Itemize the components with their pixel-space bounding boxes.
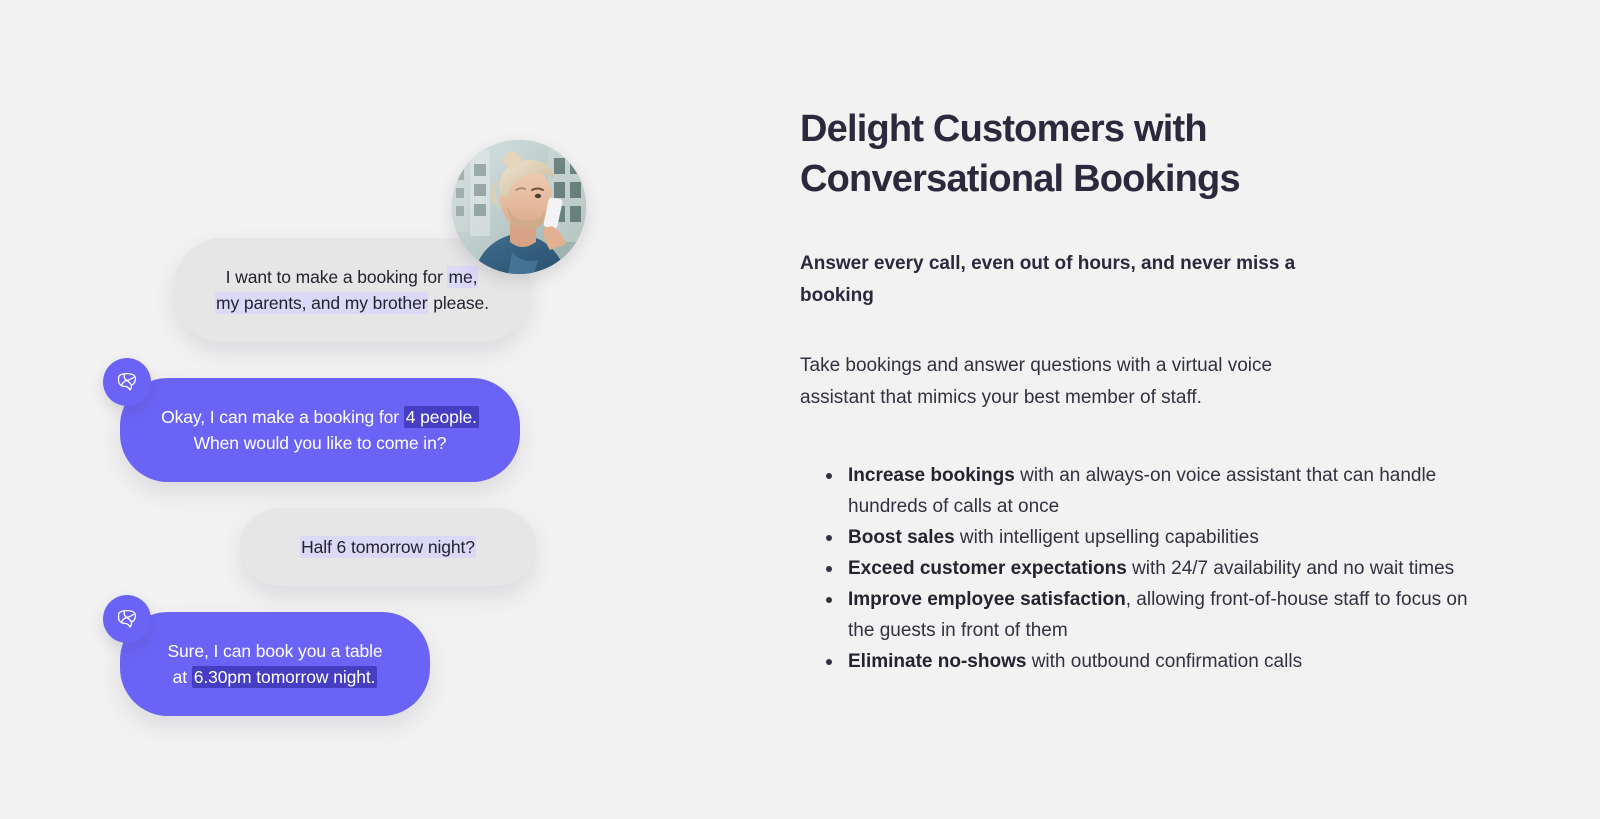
list-item-bold: Exceed customer expectations	[848, 558, 1127, 579]
chat-stack: I want to make a booking for me, my pare…	[0, 0, 760, 819]
copy-column: Delight Customers with Conversational Bo…	[760, 0, 1600, 677]
chat-line: my parents, and my brother please.	[208, 290, 496, 316]
list-item-rest: with 24/7 availability and no wait times	[1127, 558, 1454, 579]
chat-bubble-bot-2: Sure, I can book you a table at 6.30pm t…	[120, 612, 430, 716]
assistant-logo-icon	[103, 595, 151, 643]
list-item: Exceed customer expectations with 24/7 a…	[826, 553, 1490, 584]
list-item-bold: Improve employee satisfaction	[848, 589, 1126, 610]
chat-text-highlight: 6.30pm tomorrow night.	[192, 666, 378, 688]
chat-text-highlight: Half 6 tomorrow night?	[300, 536, 476, 558]
chat-bubble-bot-1: Okay, I can make a booking for 4 people.…	[120, 378, 520, 482]
chat-text-plain: please.	[428, 293, 489, 313]
chat-text-highlight: me,	[447, 266, 478, 288]
marketing-section: I want to make a booking for me, my pare…	[0, 0, 1600, 819]
chat-line: Sure, I can book you a table	[154, 638, 396, 664]
page-title: Delight Customers with Conversational Bo…	[800, 104, 1320, 204]
list-item: Improve employee satisfaction, allowing …	[826, 584, 1490, 646]
chat-line: Half 6 tomorrow night?	[274, 534, 502, 560]
body-paragraph: Take bookings and answer questions with …	[800, 350, 1300, 414]
list-item: Boost sales with intelligent upselling c…	[826, 522, 1490, 553]
subheading: Answer every call, even out of hours, an…	[800, 248, 1300, 312]
list-item-bold: Boost sales	[848, 527, 955, 548]
chat-line: at 6.30pm tomorrow night.	[154, 664, 396, 690]
chat-line: When would you like to come in?	[154, 430, 486, 456]
chat-bubble-user-2: Half 6 tomorrow night?	[240, 508, 536, 586]
assistant-logo-icon	[103, 358, 151, 406]
chat-line: Okay, I can make a booking for 4 people.	[154, 404, 486, 430]
list-item-bold: Increase bookings	[848, 465, 1015, 486]
chat-line: I want to make a booking for me,	[208, 264, 496, 290]
caller-avatar-photo	[452, 140, 586, 274]
list-item: Eliminate no-shows with outbound confirm…	[826, 646, 1490, 677]
chat-text-plain: I want to make a booking for	[226, 267, 448, 287]
list-item-bold: Eliminate no-shows	[848, 651, 1026, 672]
list-item: Increase bookings with an always-on voic…	[826, 460, 1490, 522]
list-item-rest: with intelligent upselling capabilities	[955, 527, 1259, 548]
chat-text-highlight: 4 people.	[404, 406, 479, 428]
benefit-list: Increase bookings with an always-on voic…	[800, 460, 1490, 677]
chat-text-highlight: my parents, and my brother	[215, 292, 428, 314]
list-item-rest: with outbound confirmation calls	[1026, 651, 1302, 672]
chat-text-plain: Okay, I can make a booking for	[161, 407, 404, 427]
chat-text-plain: at	[173, 667, 192, 687]
chat-illustration: I want to make a booking for me, my pare…	[0, 0, 760, 819]
